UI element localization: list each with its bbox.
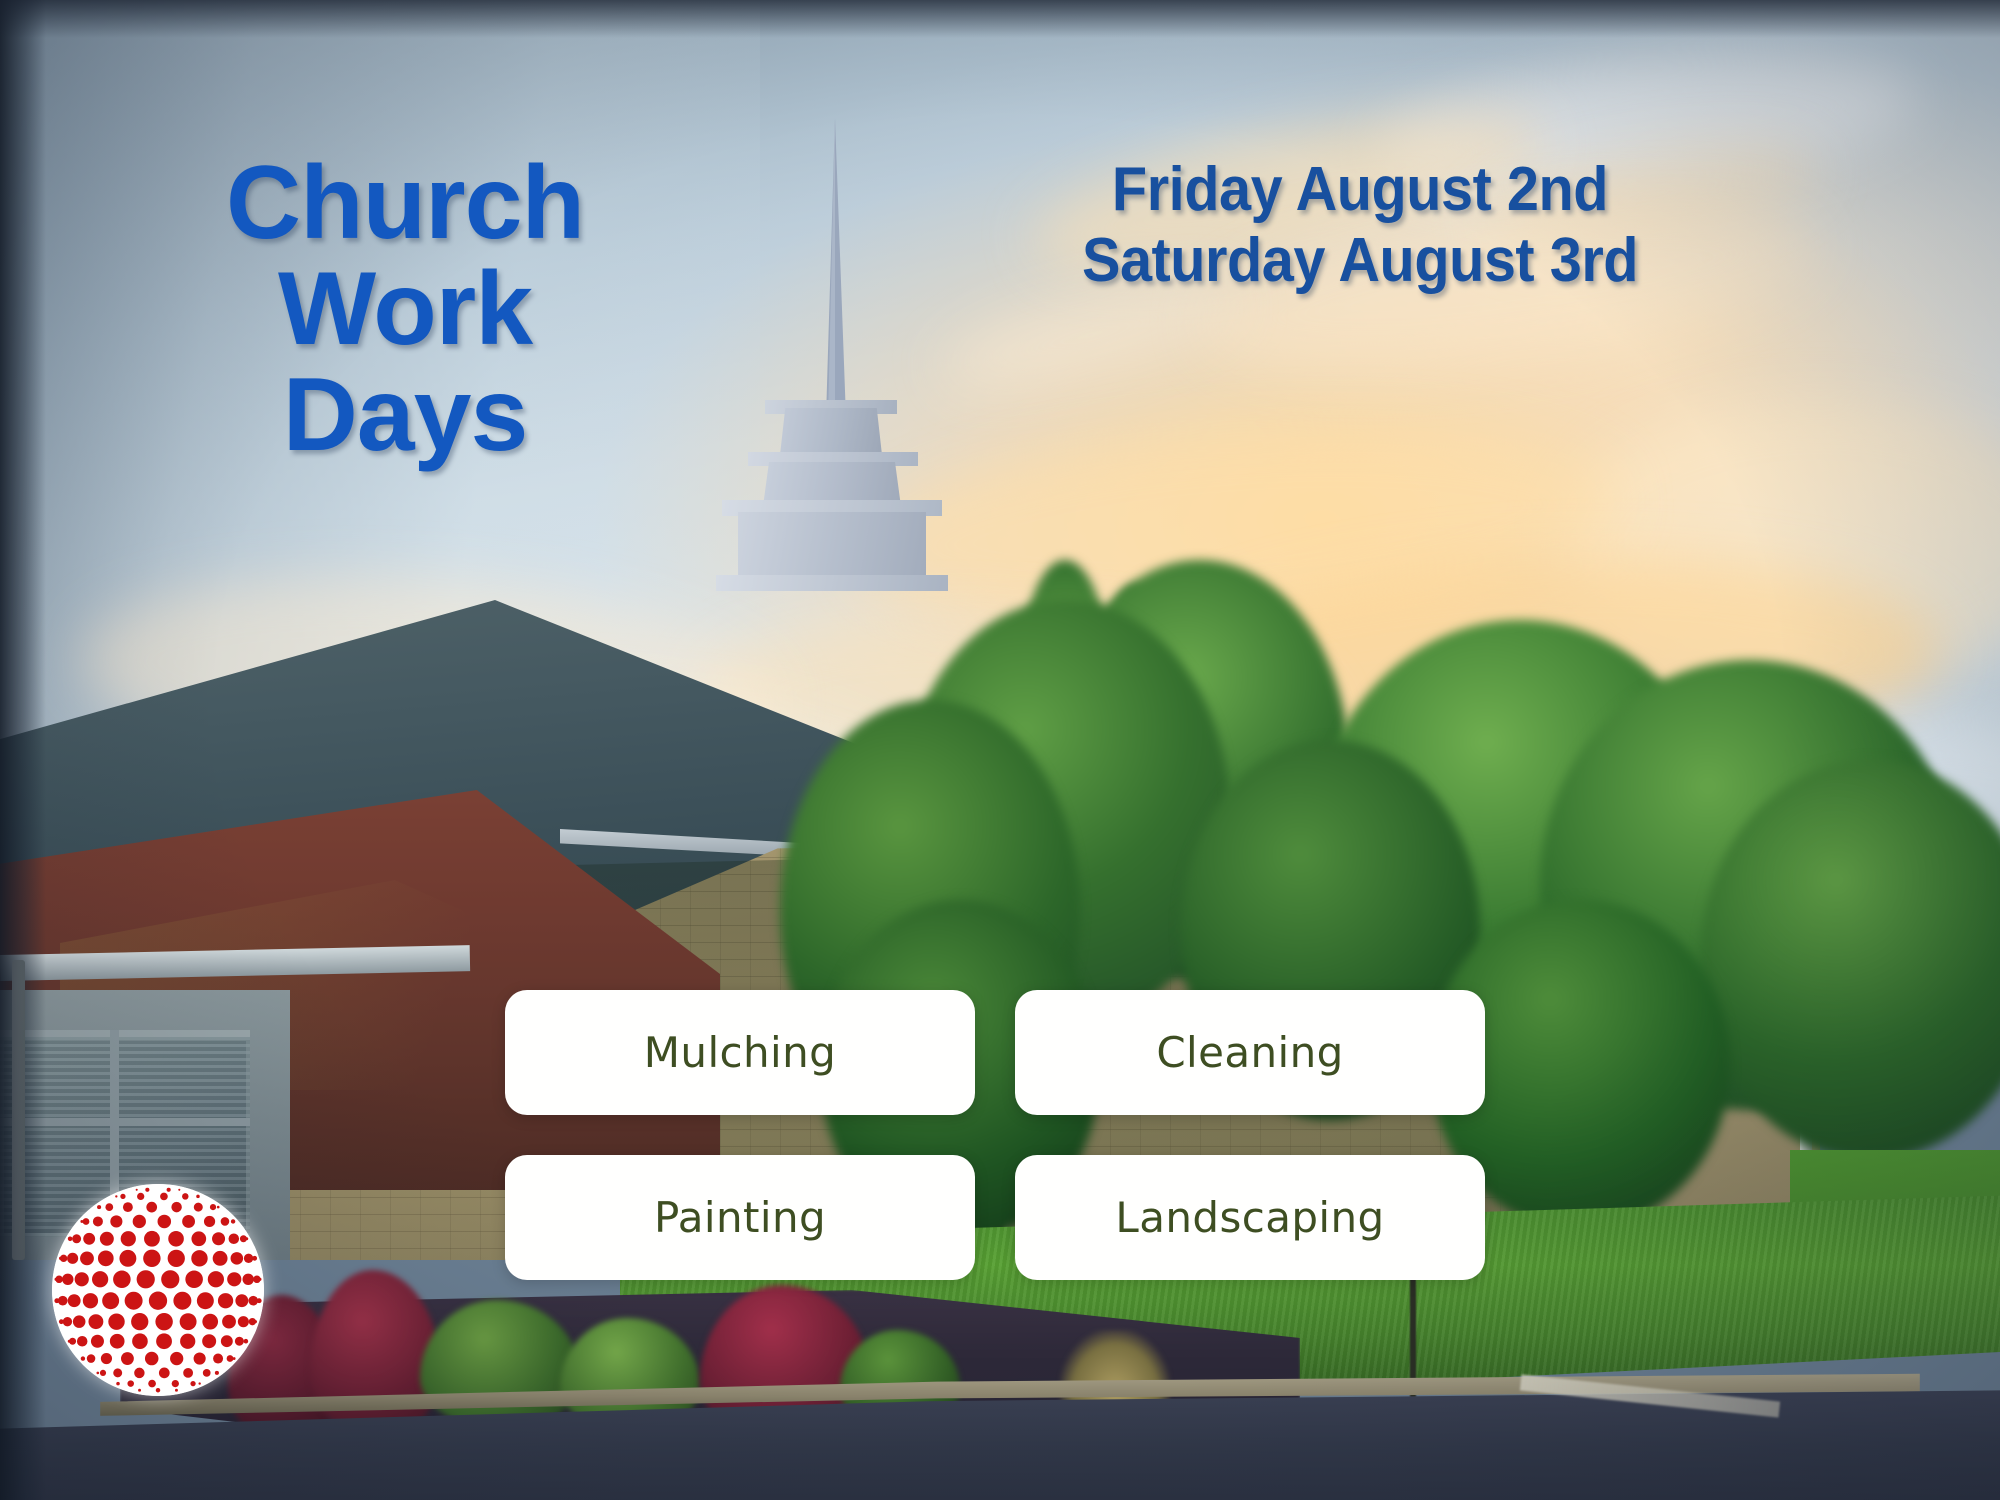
steeple-spire-highlight bbox=[828, 118, 835, 418]
shrub bbox=[310, 1270, 440, 1440]
headline-line-1: Church bbox=[190, 150, 620, 256]
ornamental-grass bbox=[1060, 1330, 1170, 1410]
headline-line-3: Days bbox=[190, 362, 620, 468]
task-card-label: Landscaping bbox=[1115, 1193, 1384, 1242]
window-mullion bbox=[0, 1118, 250, 1126]
task-card-label: Cleaning bbox=[1156, 1028, 1343, 1077]
task-card-grid: Mulching Cleaning Painting Landscaping bbox=[505, 990, 1505, 1280]
dotted-sphere-logo-icon bbox=[52, 1184, 264, 1396]
task-card-painting[interactable]: Painting bbox=[505, 1155, 975, 1280]
task-card-label: Painting bbox=[654, 1193, 826, 1242]
church-work-days-poster: Church Work Days Friday August 2nd Satur… bbox=[0, 0, 2000, 1500]
task-card-landscaping[interactable]: Landscaping bbox=[1015, 1155, 1485, 1280]
date-line-1: Friday August 2nd bbox=[1025, 155, 1695, 226]
poster-headline: Church Work Days bbox=[190, 150, 620, 468]
date-line-2: Saturday August 3rd bbox=[1025, 226, 1695, 297]
event-dates: Friday August 2nd Saturday August 3rd bbox=[1025, 155, 1695, 296]
steeple-base-cornice bbox=[716, 575, 948, 591]
steeple-tier bbox=[738, 512, 926, 580]
task-card-cleaning[interactable]: Cleaning bbox=[1015, 990, 1485, 1115]
task-card-label: Mulching bbox=[644, 1028, 836, 1077]
downspout bbox=[12, 960, 25, 1260]
headline-line-2: Work bbox=[190, 256, 620, 362]
task-card-mulching[interactable]: Mulching bbox=[505, 990, 975, 1115]
